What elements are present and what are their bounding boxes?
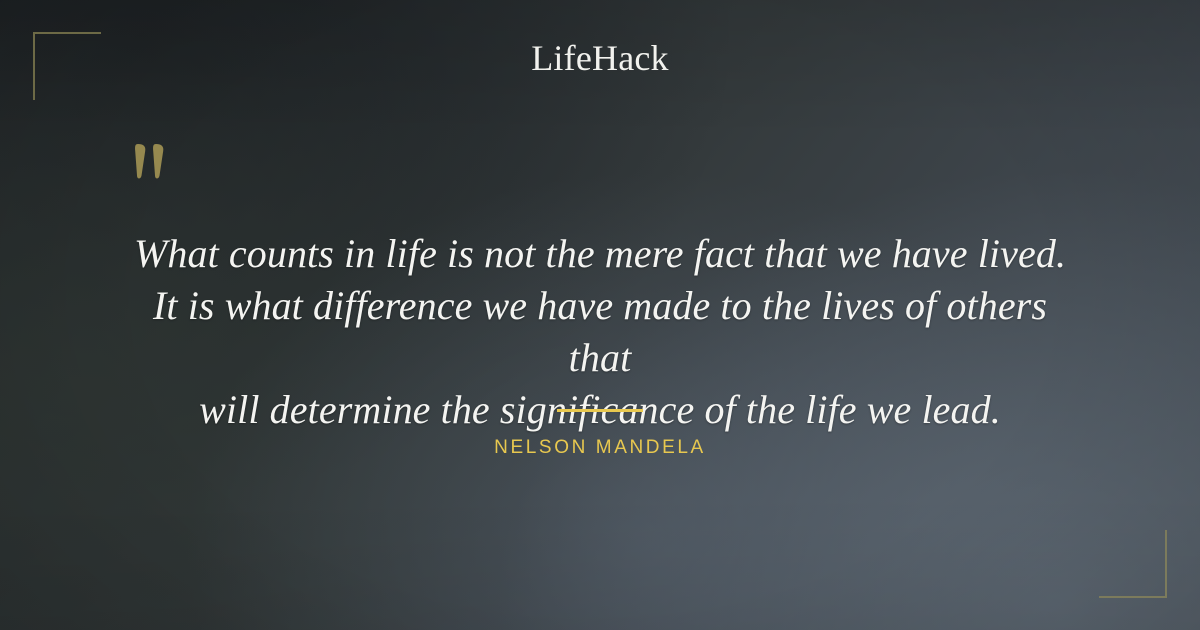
- quote-author: NELSON MANDELA: [0, 437, 1200, 459]
- quote-line-2: It is what difference we have made to th…: [120, 280, 1080, 384]
- quote-text: What counts in life is not the mere fact…: [120, 228, 1080, 436]
- corner-bracket-icon-bottom-right: [1099, 530, 1167, 598]
- quote-line-1: What counts in life is not the mere fact…: [120, 228, 1080, 280]
- brand-logo: LifeHack: [0, 40, 1200, 76]
- divider: [557, 409, 643, 412]
- double-quote-icon: [132, 142, 176, 188]
- quote-card: LifeHack What counts in life is not the …: [0, 0, 1200, 630]
- quote-block: What counts in life is not the mere fact…: [120, 228, 1080, 436]
